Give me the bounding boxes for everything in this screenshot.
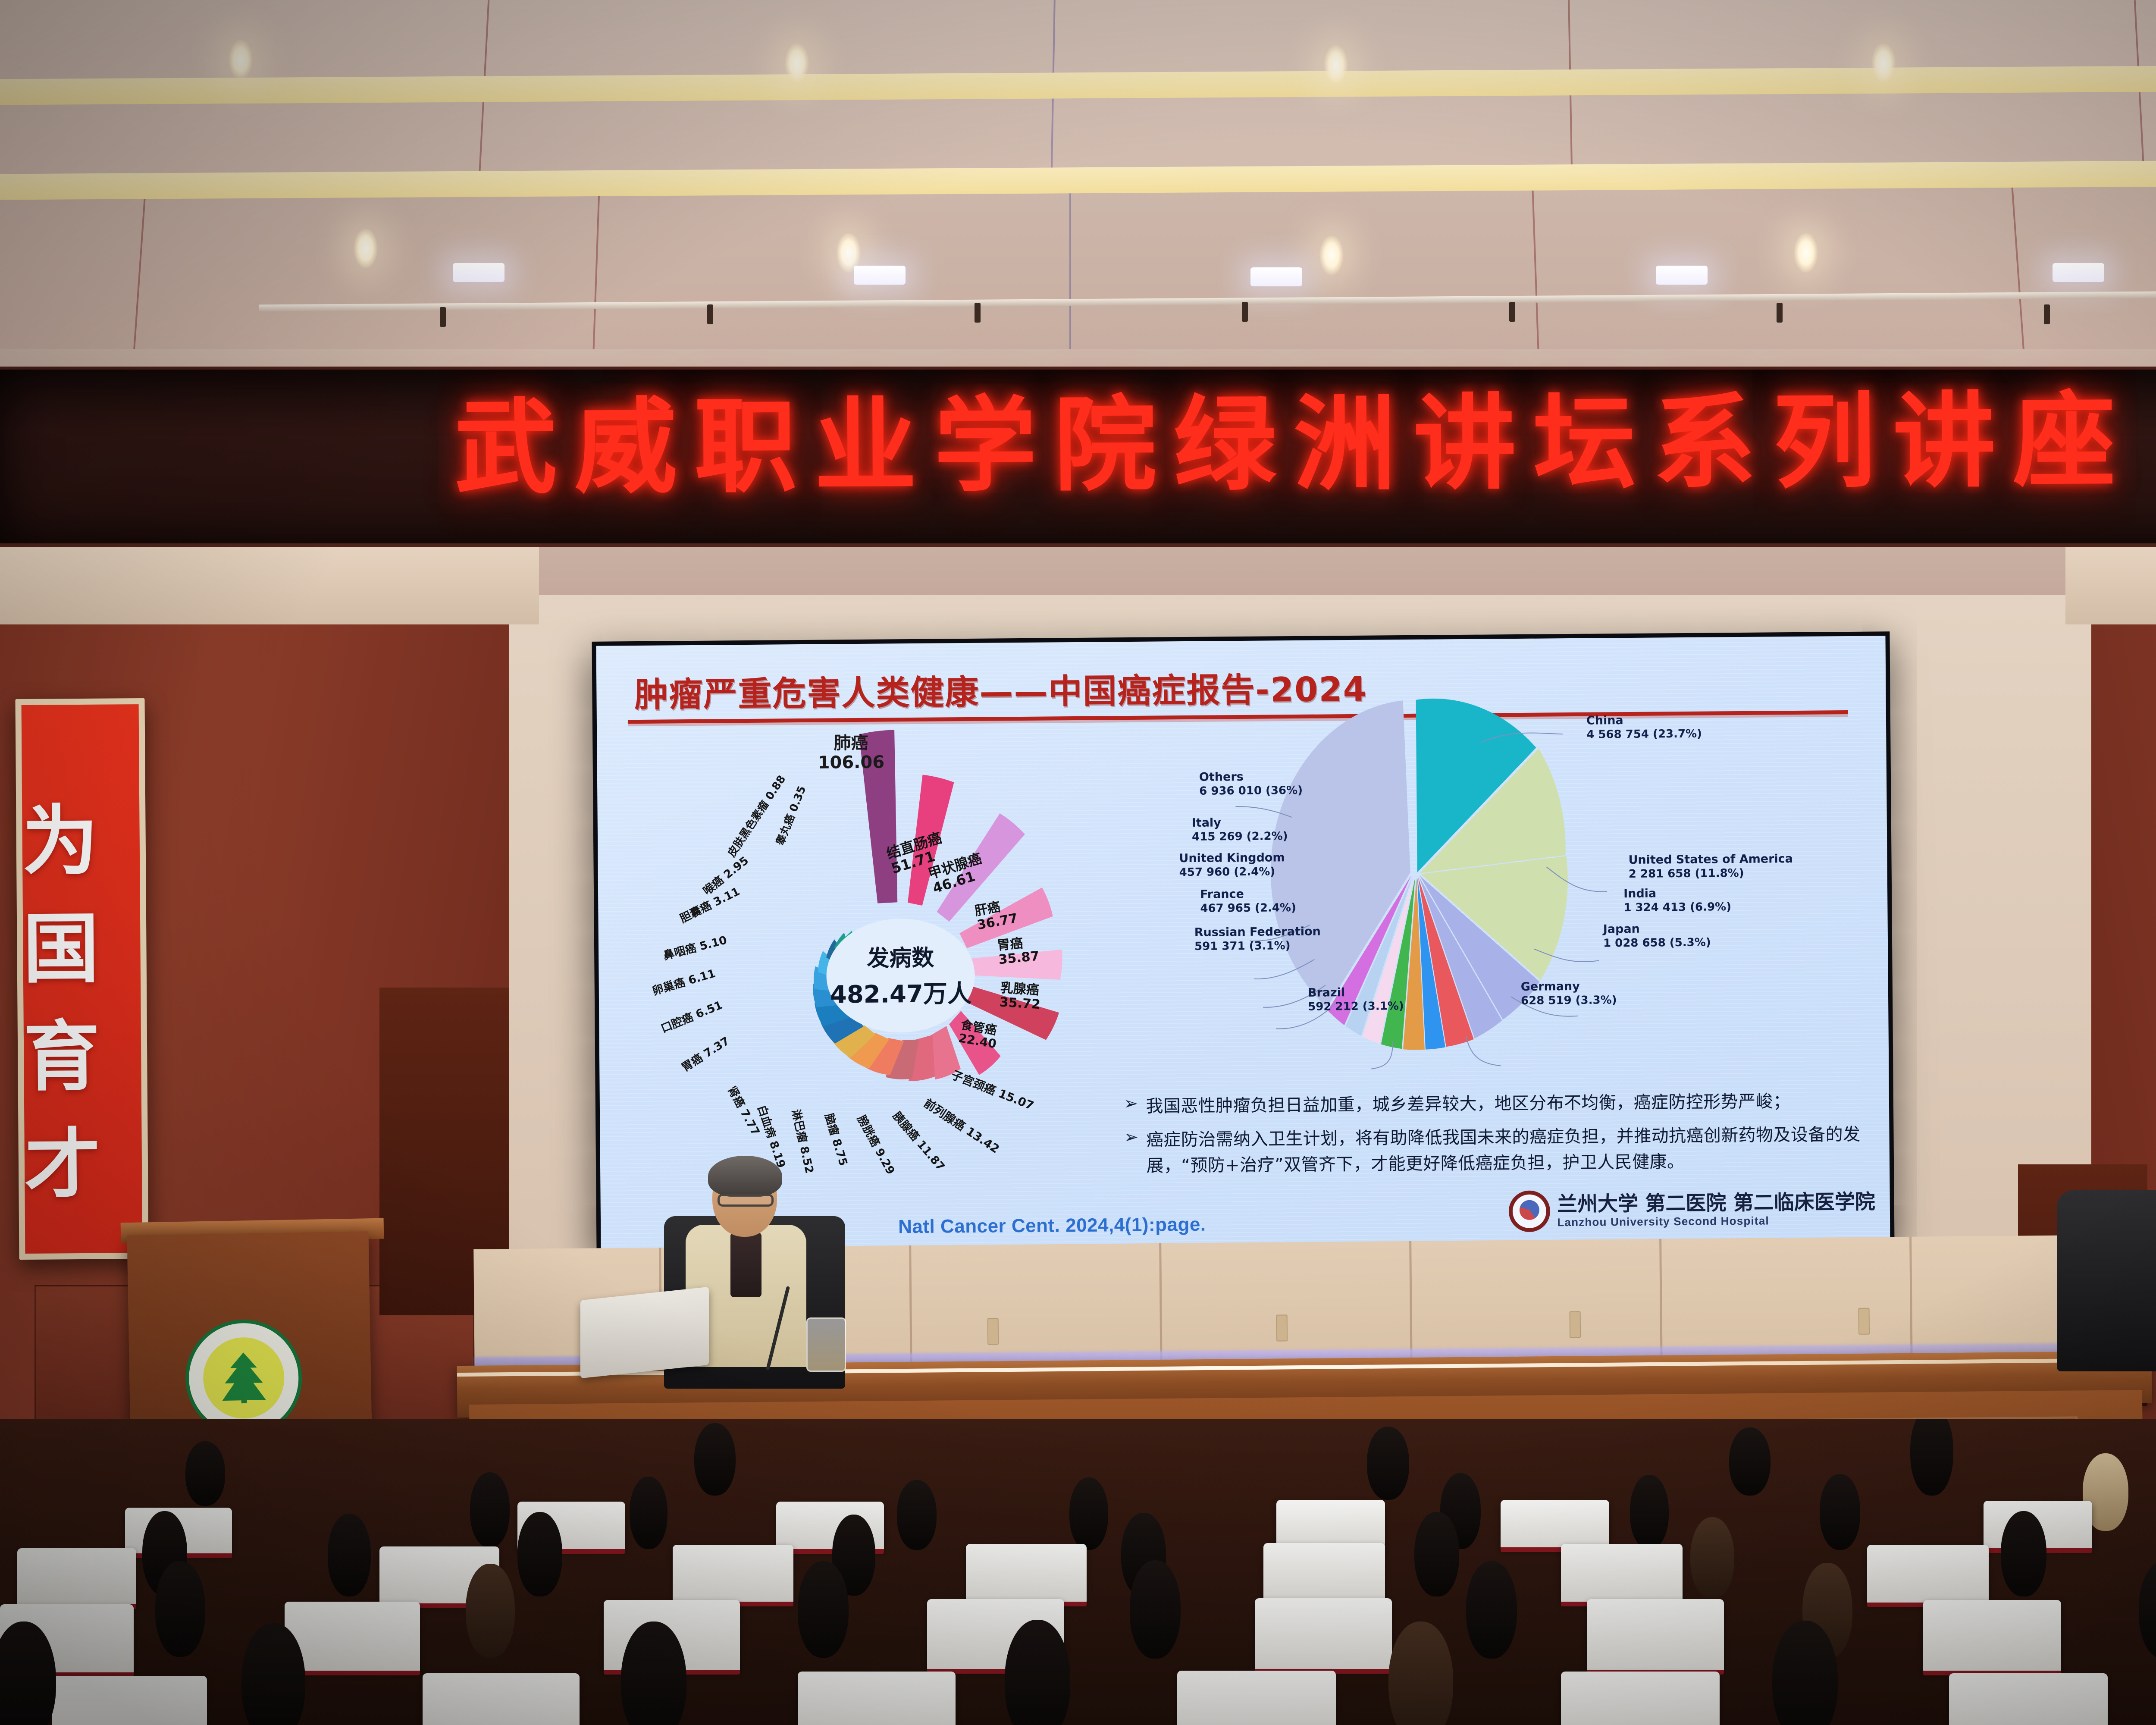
pie-label-usa: United States of America2 281 658 (11.8%… (1628, 852, 1793, 881)
audience-head (1069, 1477, 1108, 1550)
wall-wash-light (453, 263, 505, 282)
ceiling-downlight (785, 43, 809, 83)
bullet-text: 我国恶性肿瘤负担日益加重，城乡差异较大，地区分布不均衡，癌症防控形势严峻； (1146, 1088, 1790, 1120)
wall-wash-light (2053, 263, 2104, 282)
audience-seating (0, 1419, 2156, 1725)
led-marquee-banner: 武威职业学院绿洲讲坛系列讲座 (0, 367, 2156, 548)
audience-head (1466, 1561, 1517, 1659)
wall-wash-light (1656, 266, 1708, 285)
ceiling-downlight (229, 40, 253, 79)
audience-seat (17, 1548, 136, 1605)
pie-label-china: China4 568 754 (23.7%) (1586, 713, 1702, 741)
wall-trim-left (0, 547, 539, 624)
speaker-glasses-icon (718, 1194, 774, 1207)
audience-seat (798, 1672, 956, 1725)
ceiling-downlight (1871, 43, 1896, 83)
emblem-inner (203, 1337, 285, 1419)
audience-seat (1501, 1500, 1609, 1548)
audience-head (1910, 1419, 1953, 1496)
audience-head (694, 1423, 736, 1496)
audience-head (897, 1480, 937, 1550)
audience-seat (1949, 1673, 2108, 1725)
slide-bullet-list: ➢ 我国恶性肿瘤负担日益加重，城乡差异较大，地区分布不均衡，癌症防控形势严峻； … (1124, 1088, 1875, 1187)
audience-head (1630, 1475, 1669, 1549)
wall-wash-light (1250, 267, 1302, 286)
audience-seat (1923, 1600, 2061, 1672)
rose-wedge-label-stomach: 胃癌35.87 (997, 935, 1040, 967)
audience-head (1729, 1427, 1771, 1496)
audience-head (1820, 1474, 1860, 1550)
audience-head (630, 1477, 667, 1549)
bullet-item: ➢ 我国恶性肿瘤负担日益加重，城乡差异较大，地区分布不均衡，癌症防控形势严峻； (1124, 1088, 1874, 1120)
audience-head (1130, 1560, 1181, 1659)
audience-seat (1867, 1545, 1989, 1603)
laptop[interactable] (580, 1287, 709, 1378)
rose-center-value: 482.47万人 (830, 974, 972, 1010)
audience-head (2139, 1561, 2156, 1659)
audience-seat (1255, 1598, 1392, 1670)
banner-left: 为国育才 (15, 698, 148, 1260)
audience-head (798, 1561, 849, 1658)
audience-head (155, 1561, 205, 1657)
track-lamp (440, 307, 446, 327)
hospital-logo-cn: 兰州大学 第二医院 第二临床医学院 (1557, 1191, 1875, 1216)
hospital-logo-en: Lanzhou University Second Hospital (1557, 1214, 1875, 1229)
bullet-arrow-icon: ➢ (1124, 1127, 1138, 1179)
audience-seat (52, 1676, 207, 1725)
power-socket[interactable] (1858, 1308, 1870, 1335)
lecture-hall-photo: 武威职业学院绿洲讲坛系列讲座 为国育才 为党育人 肿瘤严重危害人类健康——中国癌… (0, 0, 2156, 1725)
audience-head (185, 1441, 225, 1506)
audience-head (2001, 1511, 2046, 1596)
audience-seat (1276, 1500, 1385, 1548)
incidence-rose-chart: 发病数 482.47万人 肺癌106.06 结直肠癌51.71 甲状腺癌46.6… (649, 715, 1153, 1215)
pie-label-japan: Japan1 028 658 (5.3%) (1603, 922, 1711, 950)
audience-seat (1263, 1543, 1385, 1602)
ceiling-downlight (1319, 235, 1344, 275)
audience-seat (1587, 1599, 1724, 1671)
audience-head (466, 1564, 515, 1658)
pie-label-india: India1 324 413 (6.9%) (1623, 886, 1731, 914)
audience-seat (1561, 1672, 1720, 1725)
pie-label-brazil: Brazil592 212 (3.1%) (1308, 985, 1404, 1013)
wall-trim-right (2065, 547, 2156, 624)
global-cases-pie-chart: China4 568 754 (23.7%) United States of … (1122, 688, 1867, 1095)
power-socket[interactable] (1570, 1311, 1581, 1338)
track-lamp (1777, 303, 1783, 323)
speaker-hair (708, 1156, 782, 1197)
bullet-arrow-icon: ➢ (1124, 1094, 1138, 1120)
banner-left-text: 为国育才 (22, 787, 142, 1218)
hospital-seal-icon (1509, 1190, 1551, 1232)
audience-seat (1177, 1671, 1336, 1725)
speaker-shirt (730, 1233, 761, 1297)
pie-label-italy: Italy415 269 (2.2%) (1192, 815, 1288, 844)
hospital-logo: 兰州大学 第二医院 第二临床医学院 Lanzhou University Sec… (1509, 1188, 1875, 1233)
track-lamp (975, 303, 981, 323)
ceiling-light-cove (0, 63, 2156, 105)
bullet-item: ➢ 癌症防治需纳入卫生计划，将有助降低我国未来的癌症负担，并推动抗癌创新药物及设… (1124, 1122, 1874, 1179)
ceiling-downlight (1794, 233, 1818, 273)
audience-head (1388, 1621, 1453, 1725)
rose-center-title: 发病数 (867, 940, 934, 972)
track-lamp (2044, 304, 2050, 324)
track-lamp (1509, 302, 1515, 322)
track-lamp (1242, 302, 1248, 322)
rose-wedge-label-breast: 乳腺癌35.72 (999, 981, 1042, 1012)
water-glass[interactable] (806, 1317, 846, 1372)
audience-head (621, 1621, 686, 1725)
ceiling (0, 0, 2156, 379)
pie-label-uk: United Kingdom457 960 (2.4%) (1179, 851, 1285, 879)
audience-seat (673, 1545, 793, 1603)
bullet-text: 癌症防治需纳入卫生计划，将有助降低我国未来的癌症负担，并推动抗癌创新药物及设备的… (1146, 1122, 1874, 1179)
led-banner-text: 武威职业学院绿洲讲坛系列讲座 (0, 388, 2156, 502)
presentation-slide: 肿瘤严重危害人类健康——中国癌症报告-2024 (596, 636, 1890, 1249)
empty-chair (2057, 1190, 2156, 1371)
wall-wash-light (854, 266, 906, 285)
audience-head (1414, 1512, 1459, 1596)
slide-source-citation: Natl Cancer Cent. 2024,4(1):page. (898, 1214, 1206, 1238)
audience-head (517, 1512, 562, 1596)
ceiling-downlight (1324, 45, 1348, 85)
audience-head (1367, 1427, 1409, 1500)
power-socket[interactable] (987, 1318, 999, 1345)
ceiling-downlight (354, 229, 378, 268)
audience-head (241, 1623, 305, 1725)
power-socket[interactable] (1276, 1314, 1288, 1341)
audience-seat (285, 1602, 420, 1672)
pie-label-others: Others6 936 010 (36%) (1199, 770, 1303, 798)
audience-seat (966, 1544, 1087, 1603)
audience-head (470, 1472, 510, 1547)
track-lamp (707, 304, 713, 324)
ceiling-seam (2134, 0, 2145, 185)
audience-head (328, 1514, 371, 1596)
audience-head (1772, 1621, 1838, 1725)
audience-head (1005, 1620, 1070, 1725)
pie-label-france: France467 965 (2.4%) (1200, 887, 1296, 915)
audience-seat (423, 1673, 580, 1725)
pie-label-russia: Russian Federation591 371 (3.1%) (1194, 925, 1321, 953)
audience-head (1690, 1517, 1734, 1598)
pie-label-germany: Germany628 519 (3.3%) (1521, 979, 1617, 1007)
rose-wedge-label-lung: 肺癌106.06 (818, 734, 884, 773)
audience-seat (1561, 1544, 1683, 1603)
emblem-tree-icon (219, 1352, 268, 1404)
